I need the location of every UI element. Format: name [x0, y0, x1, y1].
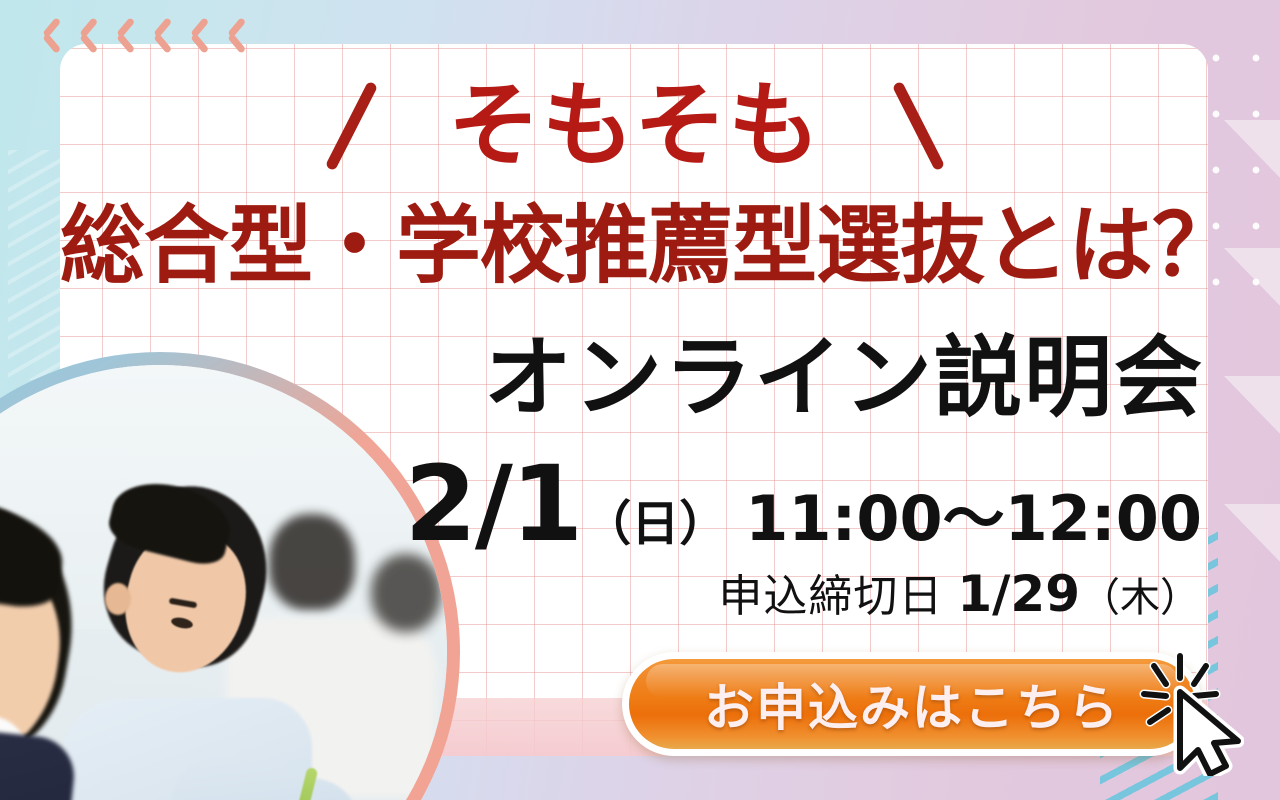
apply-now-button-label: お申込みはこちら: [704, 668, 1120, 740]
headline-eyebrow: そもそも: [448, 80, 822, 172]
deadline-date: 1/29: [957, 565, 1080, 623]
headline-main: 総合型・学校推薦型選抜とは？: [60, 198, 1208, 296]
event-day-of-week: （日）: [583, 484, 727, 554]
apply-now-button[interactable]: お申込みはこちら: [622, 652, 1202, 756]
headline-eyebrow-row: そもそも: [330, 72, 940, 180]
triangle-down-icon: [1224, 120, 1280, 184]
event-time: 11:00〜12:00: [745, 468, 1202, 558]
deadline-row: 申込締切日 1/29 （木）: [718, 560, 1200, 624]
photo-image: [0, 365, 447, 800]
left-fleck-decoration: [8, 150, 68, 380]
event-date: 2/1: [405, 452, 582, 556]
deadline-day-of-week: （木）: [1080, 565, 1200, 623]
deadline-label: 申込締切日: [718, 560, 943, 624]
students-photo-circle: [0, 352, 460, 800]
apply-now-button-surface[interactable]: お申込みはこちら: [629, 659, 1195, 749]
triangle-down-icon: [1224, 504, 1280, 568]
event-title: オンライン説明会: [484, 330, 1204, 427]
slash-left-decoration: [325, 81, 378, 172]
triangle-down-icon: [1224, 376, 1280, 440]
promo-banner: そもそも 総合型・学校推薦型選抜とは？ オンライン説明会 2/1 （日） 11:…: [0, 0, 1280, 800]
event-datetime-row: 2/1 （日） 11:00〜12:00: [405, 452, 1202, 558]
slash-right-decoration: [892, 81, 945, 172]
